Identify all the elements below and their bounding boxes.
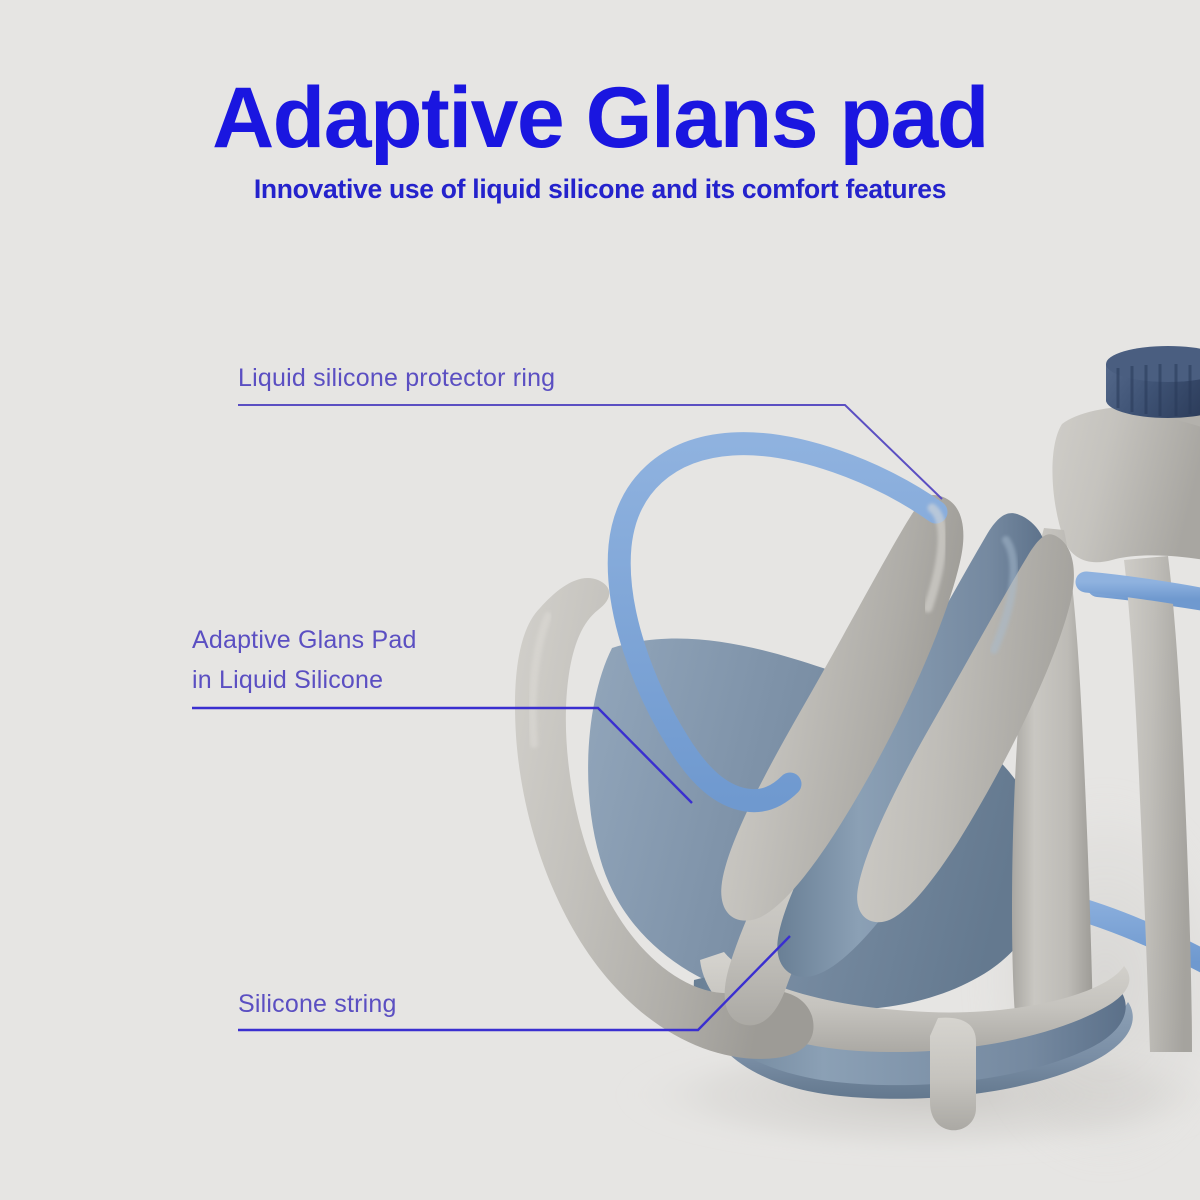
poster-header: Adaptive Glans pad Innovative use of liq… — [0, 0, 1200, 206]
callout-adaptive-glans-pad: Adaptive Glans Pad in Liquid Silicone — [192, 620, 417, 700]
base-post — [930, 1018, 976, 1131]
page-title: Adaptive Glans pad — [0, 0, 1200, 166]
callout-label-ring: Liquid silicone protector ring — [238, 358, 555, 398]
poster-canvas: Adaptive Glans pad Innovative use of liq… — [0, 0, 1200, 1200]
callout-label-string: Silicone string — [238, 984, 397, 1024]
callout-silicone-string: Silicone string — [238, 984, 397, 1024]
adjustment-knob[interactable] — [1106, 346, 1200, 418]
callout-label-pad-line2: in Liquid Silicone — [192, 660, 417, 700]
page-subtitle: Innovative use of liquid silicone and it… — [0, 166, 1200, 206]
callout-liquid-silicone-protector-ring: Liquid silicone protector ring — [238, 358, 555, 398]
callout-label-pad-line1: Adaptive Glans Pad — [192, 620, 417, 660]
